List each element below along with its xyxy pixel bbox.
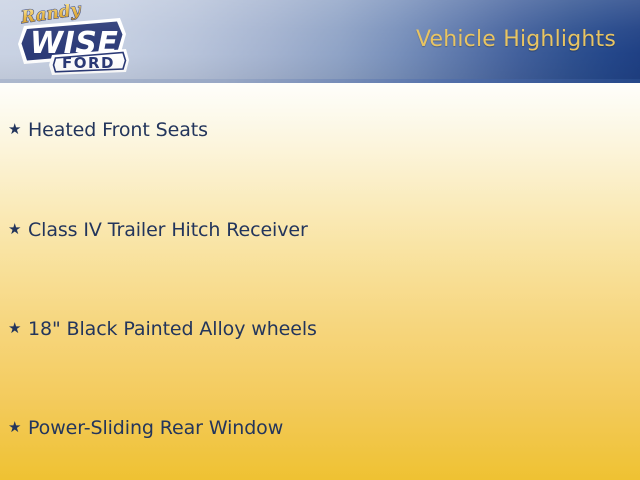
- star-icon: ★: [8, 321, 28, 336]
- list-item-label: Power-Sliding Rear Window: [28, 417, 283, 439]
- list-item: ★ Heated Front Seats: [8, 119, 208, 141]
- star-icon: ★: [8, 122, 28, 137]
- list-item: ★ Power-Sliding Rear Window: [8, 417, 283, 439]
- list-item-label: Heated Front Seats: [28, 119, 208, 141]
- logo-ford-text: FORD: [62, 54, 115, 72]
- vehicle-highlights-slide: WISE Randy FORD Vehicle Highlights ★ Hea…: [0, 0, 640, 480]
- highlights-panel: ★ Heated Front Seats ★ Class IV Trailer …: [0, 83, 640, 480]
- star-icon: ★: [8, 222, 28, 237]
- star-icon: ★: [8, 420, 28, 435]
- list-item-label: Class IV Trailer Hitch Receiver: [28, 219, 308, 241]
- list-item: ★ Class IV Trailer Hitch Receiver: [8, 219, 308, 241]
- highlights-list: ★ Heated Front Seats ★ Class IV Trailer …: [0, 83, 640, 480]
- list-item: ★ 18" Black Painted Alloy wheels: [8, 318, 317, 340]
- page-title: Vehicle Highlights: [416, 27, 616, 52]
- randy-wise-ford-logo[interactable]: WISE Randy FORD: [8, 4, 134, 78]
- list-item-label: 18" Black Painted Alloy wheels: [28, 318, 317, 340]
- header-bar: WISE Randy FORD Vehicle Highlights: [0, 0, 640, 83]
